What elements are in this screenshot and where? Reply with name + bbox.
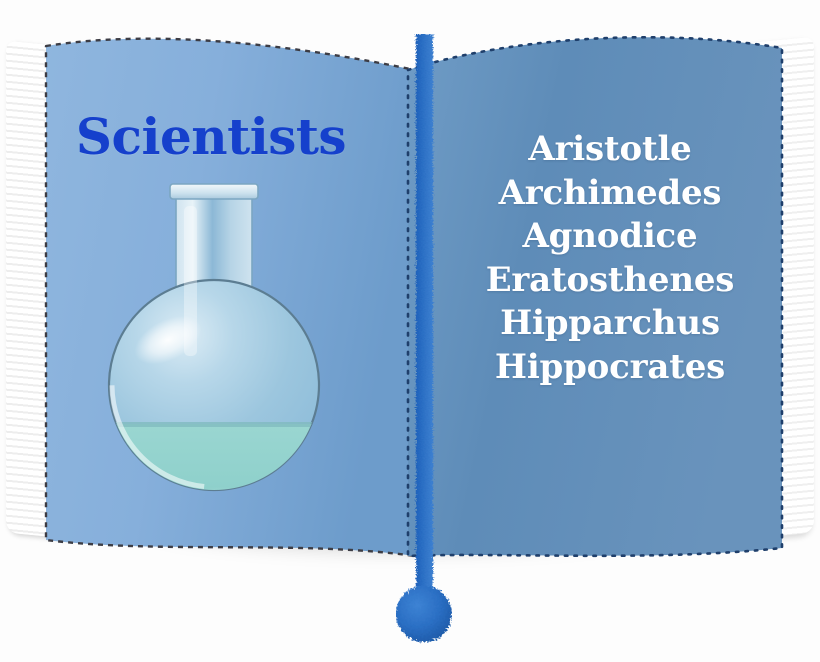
illustration-canvas: Scientists [0,0,820,662]
book-page-right [400,0,820,662]
round-bottom-flask-icon [84,172,344,502]
